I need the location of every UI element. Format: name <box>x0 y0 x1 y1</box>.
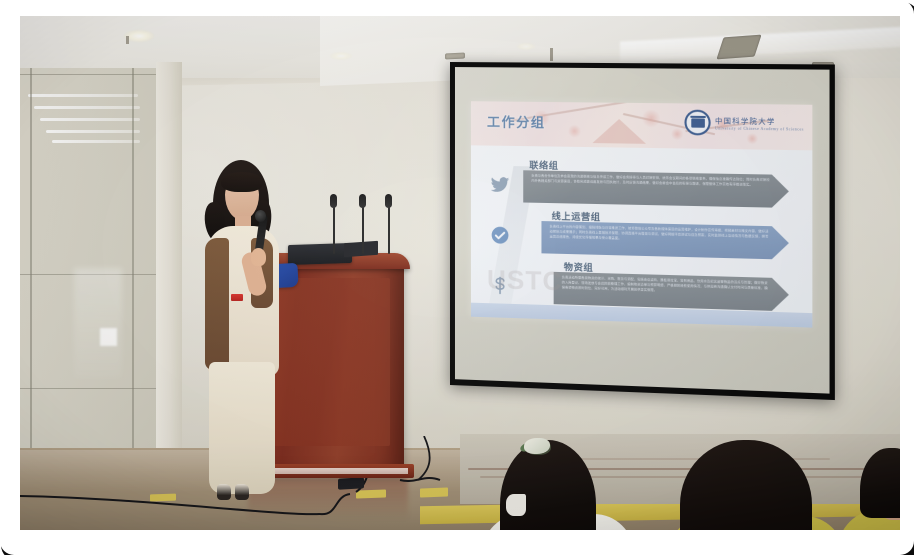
presenter-vest <box>205 238 229 370</box>
presenter-badge <box>231 294 243 301</box>
ucas-seal-icon <box>685 110 711 136</box>
group-body-text: 负责活动所需各类物资的统计、采购、租赁与调配，包括会议桌椅、展板易拉宝、签到用品… <box>562 275 770 297</box>
monitor <box>344 241 378 257</box>
group-label: 线上运营组 <box>552 209 601 223</box>
microphone-head-icon <box>330 194 337 208</box>
bird-icon <box>489 174 511 197</box>
group-body-text: 负责线上平台的内容策划、编辑排版与日常推送工作，统筹微信公众号及各新媒体渠道的运… <box>550 224 770 245</box>
projected-slide: 工作分组 中国科学院大学 University of Chinese Acade… <box>471 101 812 327</box>
wall-notice <box>100 328 117 346</box>
sprinkler-icon <box>550 48 553 61</box>
pagoda-illustration <box>592 119 646 144</box>
sprinkler-icon <box>126 36 129 44</box>
glass-panel-wall <box>20 68 160 456</box>
hair-bow-icon <box>524 438 550 454</box>
group-arrow-bar: 负责与各合作单位及参会嘉宾的沟通联络与信息传递工作，做好会务接待与人员对接安排，… <box>523 170 789 208</box>
face-mask <box>506 494 526 516</box>
presenter-skirt <box>209 362 275 494</box>
photo-card: 工作分组 中国科学院大学 University of Chinese Acade… <box>0 0 914 555</box>
gooseneck-microphone <box>333 202 335 254</box>
presenter-hand <box>251 248 266 266</box>
ceiling-vent-icon <box>445 52 465 59</box>
slide-title: 工作分组 <box>487 111 546 131</box>
logo-name-cn: 中国科学院大学 <box>715 116 804 127</box>
screen-surface: 工作分组 中国科学院大学 University of Chinese Acade… <box>455 67 830 394</box>
presenter-shoe <box>217 484 231 500</box>
photograph: 工作分组 中国科学院大学 University of Chinese Acade… <box>20 16 900 530</box>
university-logo: 中国科学院大学 University of Chinese Academy of… <box>685 110 804 137</box>
group-label: 物资组 <box>564 260 593 274</box>
microphone-head-icon <box>385 194 392 208</box>
microphone-head-icon <box>255 210 266 222</box>
gooseneck-microphone <box>362 202 364 254</box>
logo-name-en: University of Chinese Academy of Science… <box>715 126 804 131</box>
wall-pillar <box>156 62 182 462</box>
glass-reflection <box>74 268 122 378</box>
slide-header-band: 工作分组 中国科学院大学 University of Chinese Acade… <box>471 101 812 150</box>
ceiling-light-icon <box>517 43 535 50</box>
presenter-hair <box>221 172 263 192</box>
laptop <box>288 243 352 265</box>
microphone-head-icon <box>359 194 366 208</box>
projection-screen: 工作分组 中国科学院大学 University of Chinese Acade… <box>450 62 835 400</box>
presenter-shoe <box>235 484 249 500</box>
group-arrow-bar: 负责线上平台的内容策划、编辑排版与日常推送工作，统筹微信公众号及各新媒体渠道的运… <box>541 221 788 260</box>
group-label: 联络组 <box>529 158 558 172</box>
presenter <box>195 156 291 516</box>
group-body-text: 负责与各合作单位及参会嘉宾的沟通联络与信息传递工作，做好会务接待与人员对接安排，… <box>531 173 769 188</box>
ceiling-light-icon <box>330 52 352 60</box>
slide-watermark: USTC <box>487 264 563 297</box>
gooseneck-microphone <box>388 202 390 254</box>
power-adapter <box>338 477 364 489</box>
check-circle-icon <box>489 224 511 247</box>
